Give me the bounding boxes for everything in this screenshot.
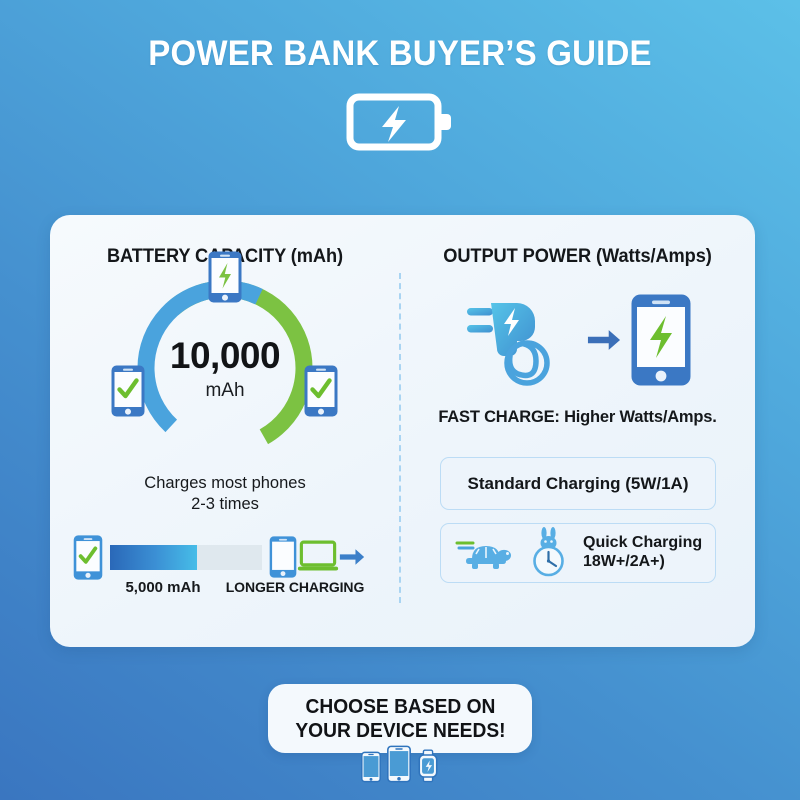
phone-check-icon: [111, 365, 145, 417]
header-battery-wrap: [0, 91, 800, 153]
capacity-progress-row: [73, 533, 383, 581]
capacity-caption-line2: 2-3 times: [50, 494, 400, 515]
cta-line1: CHOOSE BASED ON: [295, 695, 505, 719]
capacity-progress-fill: [110, 545, 197, 570]
option-quick-charging[interactable]: Quick Charging 18W+/2A+): [440, 523, 716, 583]
output-power-heading: OUTPUT POWER (Watts/Amps): [407, 246, 748, 268]
phone-charging-icon: [631, 294, 691, 386]
capacity-donut-chart: 10,000 mAh: [130, 273, 320, 463]
capacity-progress-labels: 5,000 mAh LONGER CHARGING: [50, 579, 400, 601]
phone-icon: [387, 745, 411, 783]
capacity-caption-line1: Charges most phones: [50, 473, 400, 494]
smartwatch-icon: [417, 749, 439, 783]
capacity-caption: Charges most phones 2-3 times: [50, 473, 400, 515]
cta-line2: YOUR DEVICE NEEDS!: [295, 719, 505, 743]
arrow-right-icon: [587, 327, 621, 353]
header: POWER BANK BUYER’S GUIDE: [0, 0, 800, 153]
plug-icon: [465, 291, 577, 389]
main-card: BATTERY CAPACITY (mAh) 10,000 mAh: [50, 215, 755, 647]
phone-check-icon: [304, 365, 338, 417]
battery-capacity-panel: BATTERY CAPACITY (mAh) 10,000 mAh: [50, 215, 400, 647]
laptop-icon: [297, 540, 339, 574]
option-quick-label-line2: 18W+/2A+): [583, 553, 702, 572]
option-quick-label-line1: Quick Charging: [583, 534, 702, 553]
option-standard-label: Standard Charging (5W/1A): [467, 474, 688, 494]
charging-flow: [400, 287, 755, 392]
progress-label-left: 5,000 mAh: [98, 579, 228, 596]
phone-check-icon: [73, 535, 103, 580]
phone-charging-icon: [208, 251, 242, 303]
battery-charging-icon: [346, 91, 454, 153]
phone-icon: [269, 536, 297, 578]
turtle-icon: [455, 535, 517, 571]
rabbit-clock-icon: [526, 527, 572, 579]
arrow-right-icon: [339, 546, 365, 568]
infographic-poster: POWER BANK BUYER’S GUIDE BATTERY CAPACIT…: [0, 0, 800, 800]
cta-banner[interactable]: CHOOSE BASED ON YOUR DEVICE NEEDS!: [268, 684, 532, 753]
page-title: POWER BANK BUYER’S GUIDE: [28, 0, 772, 74]
output-power-panel: OUTPUT POWER (Watts/Amps): [400, 215, 755, 647]
progress-label-right: LONGER CHARGING: [215, 579, 375, 595]
option-quick-label: Quick Charging 18W+/2A+): [583, 534, 702, 572]
capacity-progress-bar: [110, 545, 262, 570]
option-standard-charging[interactable]: Standard Charging (5W/1A): [440, 457, 716, 510]
cta-device-icons: [0, 745, 800, 783]
fast-charge-note: FAST CHARGE: Higher Watts/Amps.: [400, 408, 755, 427]
small-phone-icon: [361, 751, 381, 783]
cta-text: CHOOSE BASED ON YOUR DEVICE NEEDS!: [295, 695, 505, 743]
